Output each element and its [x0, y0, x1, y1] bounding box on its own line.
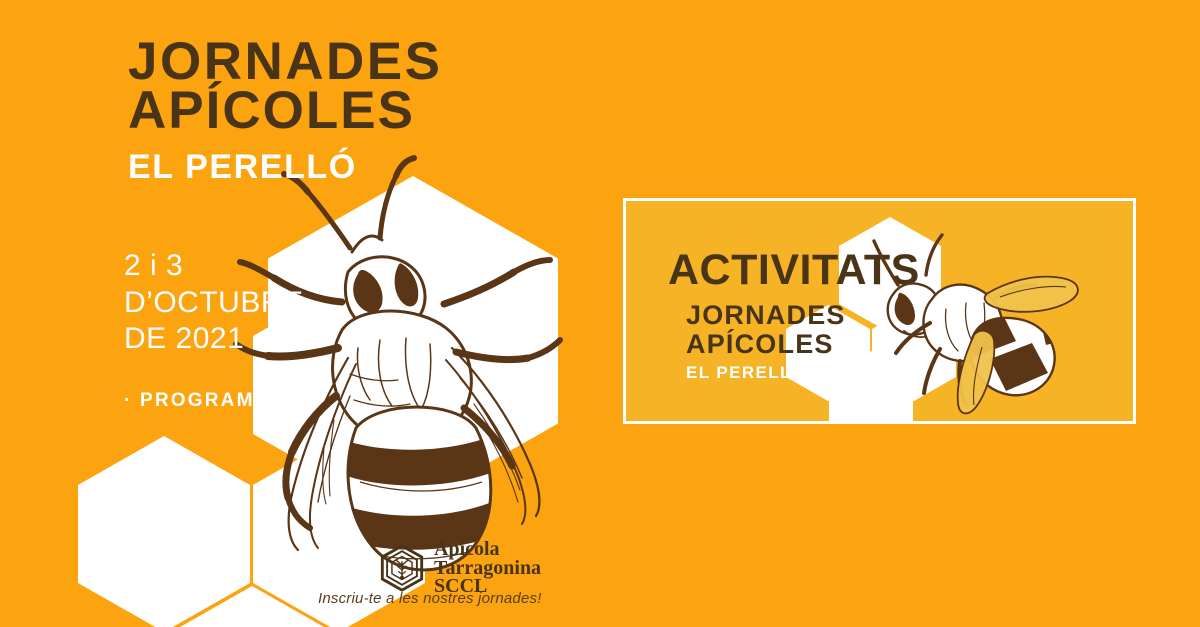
- date-line-days: 2 i 3: [124, 248, 304, 285]
- honeycomb-hexagon-decor: [78, 436, 250, 627]
- programa-label: · PROGRAMA ·: [124, 390, 304, 412]
- date-line-year: DE 2021: [124, 321, 304, 358]
- hexagon-bee-emblem-icon: [378, 544, 426, 592]
- poster-title-block: JORNADES APÍCOLES EL PERELLÓ: [128, 38, 443, 187]
- date-line-month: D’OCTUBRE: [124, 285, 304, 322]
- poster-canvas: JORNADES APÍCOLES EL PERELLÓ 2 i 3 D’OCT…: [0, 0, 1200, 627]
- activitats-card[interactable]: ACTIVITATS JORNADES APÍCOLES EL PERELLÓ: [623, 198, 1136, 424]
- poster-date-block: 2 i 3 D’OCTUBRE DE 2021 · PROGRAMA ·: [124, 248, 304, 412]
- poster-title-line1: JORNADES: [128, 38, 443, 87]
- logo-wordmark: Apícola Tarragonina SCCL: [434, 540, 541, 596]
- poster-location: EL PERELLÓ: [128, 148, 443, 187]
- apicola-tarragonina-logo: Apícola Tarragonina SCCL: [378, 540, 541, 596]
- poster-tagline: Inscriu-te a les nostres jornades!: [318, 590, 542, 607]
- logo-line1: Apícola: [434, 540, 541, 559]
- poster-title-line2: APÍCOLES: [128, 87, 443, 136]
- flying-honeybee-illustration: [854, 227, 1084, 417]
